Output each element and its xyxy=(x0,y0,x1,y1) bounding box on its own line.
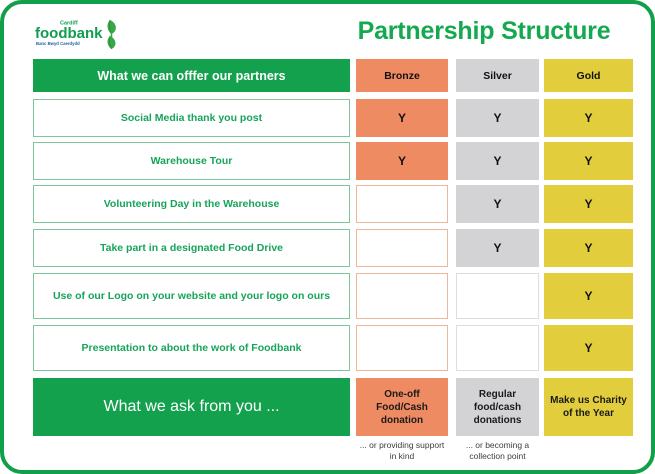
row-label: Take part in a designated Food Drive xyxy=(33,229,350,267)
cell-bronze xyxy=(356,185,448,223)
cell-gold: Y xyxy=(544,325,633,371)
cell-silver: Y xyxy=(456,99,539,137)
cell-bronze xyxy=(356,229,448,267)
cell-silver xyxy=(456,273,539,319)
ask-header-cell: What we ask from you ... xyxy=(33,378,350,436)
cell-gold: Y xyxy=(544,185,633,223)
cell-bronze xyxy=(356,325,448,371)
cell-gold: Y xyxy=(544,142,633,180)
note-bronze: ... or providing support in kind xyxy=(356,440,448,466)
ask-cell-silver: Regular food/cash donations xyxy=(456,378,539,436)
ask-cell-bronze: One-off Food/Cash donation xyxy=(356,378,448,436)
cell-gold: Y xyxy=(544,273,633,319)
cell-silver: Y xyxy=(456,229,539,267)
tier-header-bronze: Bronze xyxy=(356,59,448,92)
cell-bronze: Y xyxy=(356,142,448,180)
row-label: Presentation to about the work of Foodba… xyxy=(33,325,350,371)
cell-gold: Y xyxy=(544,229,633,267)
cell-bronze: Y xyxy=(356,99,448,137)
partnership-table: What we can offfer our partners Bronze S… xyxy=(4,4,655,474)
row-label: Volunteering Day in the Warehouse xyxy=(33,185,350,223)
tier-header-gold: Gold xyxy=(544,59,633,92)
row-label: Warehouse Tour xyxy=(33,142,350,180)
cell-bronze xyxy=(356,273,448,319)
row-label: Social Media thank you post xyxy=(33,99,350,137)
cell-silver: Y xyxy=(456,185,539,223)
cell-silver xyxy=(456,325,539,371)
cell-gold: Y xyxy=(544,99,633,137)
note-silver: ... or becoming a collection point xyxy=(456,440,539,466)
row-label: Use of our Logo on your website and your… xyxy=(33,273,350,319)
partnership-structure-card: Cardiff foodbank Banc Bwyd Caerdydd Part… xyxy=(0,0,655,474)
tier-header-silver: Silver xyxy=(456,59,539,92)
cell-silver: Y xyxy=(456,142,539,180)
note-gold xyxy=(544,440,633,466)
ask-cell-gold: Make us Charity of the Year xyxy=(544,378,633,436)
offer-header-cell: What we can offfer our partners xyxy=(33,59,350,92)
